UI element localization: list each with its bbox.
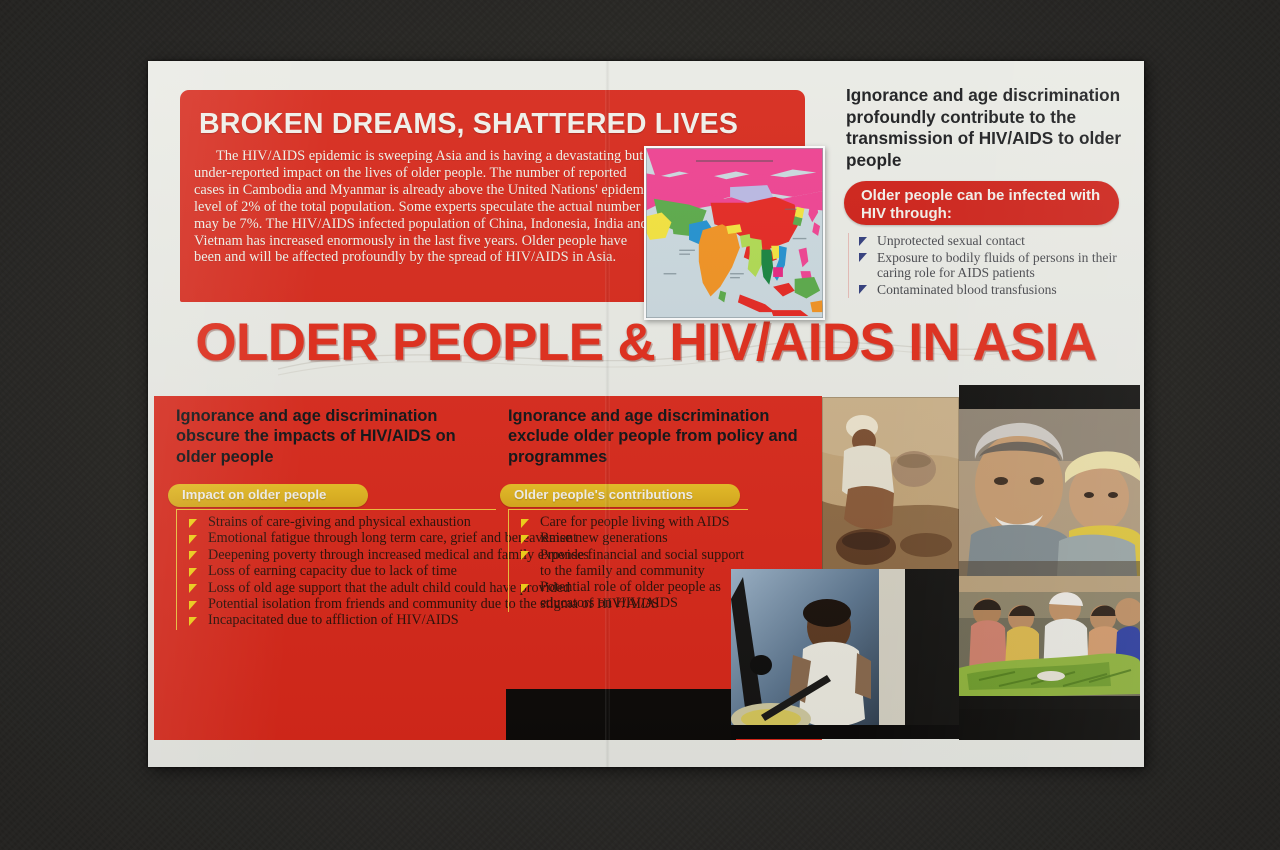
map-title-line: [696, 160, 774, 162]
transmission-heading: Ignorance and age discrimination profoun…: [846, 85, 1134, 171]
list-item: Deepening poverty through increased medi…: [187, 548, 496, 564]
intro-body-text: The HIV/AIDS epidemic is sweeping Asia a…: [194, 148, 656, 266]
list-item-label: Strains of care-giving and physical exha…: [208, 514, 471, 530]
photo-market-vegetables: [959, 576, 1140, 716]
list-item-label: Raise new generations: [540, 530, 668, 546]
list-item: Exposure to bodily fluids of persons in …: [857, 250, 1138, 281]
impacts-banner: Impact on older people: [168, 484, 368, 507]
poster-bottom-margin: [148, 740, 1144, 767]
photo-woman-cooking: [731, 569, 959, 739]
list-item-label: Care for people living with AIDS: [540, 514, 730, 530]
list-item: Raise new generations: [519, 531, 748, 547]
list-item: Incapacitated due to affliction of HIV/A…: [187, 613, 496, 629]
list-item: Strains of care-giving and physical exha…: [187, 515, 496, 531]
photo-potter: [822, 397, 959, 575]
triangle-bullet-icon: [521, 551, 529, 560]
triangle-bullet-icon: [189, 584, 197, 593]
list-item: Contaminated blood transfusions: [857, 282, 1138, 298]
triangle-bullet-icon: [521, 584, 529, 593]
list-item: Loss of earning capacity due to lack of …: [187, 564, 496, 580]
list-item-label: Incapacitated due to affliction of HIV/A…: [208, 612, 459, 628]
transmission-pill: Older people can be infected with HIV th…: [844, 181, 1119, 225]
list-item: Potential isolation from friends and com…: [187, 597, 496, 613]
list-item: Unprotected sexual contact: [857, 233, 1138, 249]
triangle-bullet-icon: [189, 568, 197, 577]
page-title: OLDER PEOPLE & HIV/AIDS IN ASIA: [148, 312, 1144, 373]
policy-banner-label: Older people's contributions: [514, 487, 693, 502]
triangle-bullet-icon: [189, 617, 197, 626]
list-item: Loss of old age support that the adult c…: [187, 581, 496, 597]
policy-banner: Older people's contributions: [500, 484, 740, 507]
list-item-label: Potential role of older people as educat…: [540, 579, 721, 611]
triangle-bullet-icon: [859, 285, 867, 294]
triangle-bullet-icon: [859, 237, 867, 246]
list-item-label: Unprotected sexual contact: [877, 233, 1025, 248]
triangle-bullet-icon: [521, 519, 529, 528]
list-item: Care for people living with AIDS: [519, 515, 748, 531]
list-item: Provide financial and social support to …: [519, 548, 748, 580]
list-item-label: Loss of earning capacity due to lack of …: [208, 563, 457, 579]
list-item-label: Contaminated blood transfusions: [877, 282, 1057, 297]
triangle-bullet-icon: [859, 253, 867, 262]
list-item-label: Provide financial and social support to …: [540, 547, 744, 579]
list-item: Emotional fatigue through long term care…: [187, 531, 496, 547]
triangle-bullet-icon: [189, 519, 197, 528]
triangle-bullet-icon: [189, 535, 197, 544]
transmission-list: Unprotected sexual contact Exposure to b…: [848, 233, 1138, 298]
photo-black-band: [959, 709, 1140, 740]
triangle-bullet-icon: [189, 551, 197, 560]
triangle-bullet-icon: [521, 535, 529, 544]
transmission-pill-label: Older people can be infected with HIV th…: [861, 187, 1109, 222]
impacts-list: Strains of care-giving and physical exha…: [176, 509, 496, 630]
intro-title: BROKEN DREAMS, SHATTERED LIVES: [199, 108, 738, 141]
impacts-banner-label: Impact on older people: [182, 487, 326, 502]
policy-list: Care for people living with AIDS Raise n…: [508, 509, 748, 612]
photo-elder-and-child: [959, 385, 1140, 576]
list-item: Potential role of older people as educat…: [519, 580, 748, 612]
poster-sheet: BROKEN DREAMS, SHATTERED LIVES The HIV/A…: [148, 61, 1144, 767]
impacts-heading: Ignorance and age discrimination obscure…: [176, 406, 468, 467]
policy-heading: Ignorance and age discrimination exclude…: [508, 406, 800, 467]
black-block-lower: [506, 689, 736, 740]
list-item-label: Exposure to bodily fluids of persons in …: [877, 250, 1117, 281]
asia-map-image: [644, 146, 825, 320]
triangle-bullet-icon: [189, 601, 197, 610]
